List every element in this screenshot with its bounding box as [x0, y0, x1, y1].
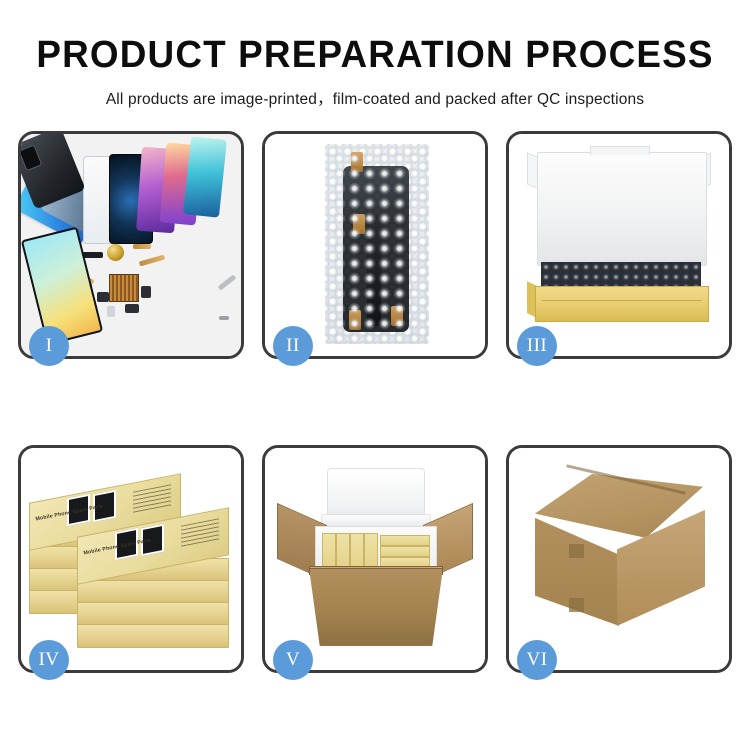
stacked-box — [77, 580, 229, 604]
process-step-panel-5: V — [262, 445, 488, 673]
camera-module-icon — [21, 144, 42, 171]
screen-flex-cable — [367, 214, 381, 326]
small-part — [107, 306, 115, 317]
step-5-image — [265, 448, 485, 670]
bubble-wrapped-contents — [541, 262, 701, 288]
step-badge-1: I — [29, 326, 69, 366]
process-step-panel-3: III — [506, 131, 732, 359]
stacked-box — [77, 624, 229, 648]
flex-cable — [133, 244, 151, 249]
yellow-mailer-box-base — [535, 286, 709, 322]
tweezers-tool — [218, 274, 237, 290]
chip-component — [109, 274, 139, 302]
process-step-panel-1: I — [18, 131, 244, 359]
page-header: PRODUCT PREPARATION PROCESS All products… — [0, 0, 750, 109]
step-1-image — [21, 134, 241, 356]
page-subtitle: All products are image-printed，film-coat… — [0, 87, 750, 109]
page-title: PRODUCT PREPARATION PROCESS — [11, 36, 739, 76]
shipping-carton-open — [309, 568, 443, 646]
step-badge-5: V — [273, 640, 313, 680]
step-2-image — [265, 134, 485, 356]
wrapped-screen-assembly — [343, 166, 409, 332]
screw — [219, 316, 229, 320]
white-foam-lid — [537, 152, 707, 266]
phone-teal — [183, 136, 227, 217]
packed-box — [380, 546, 430, 557]
tape-tab — [391, 306, 403, 326]
process-step-panel-2: II — [262, 131, 488, 359]
stacked-box — [77, 602, 229, 626]
bubble-wrap-bag — [325, 144, 429, 344]
process-step-grid: I II III — [18, 131, 732, 673]
step-6-image — [509, 448, 729, 670]
box-stack: Mobile Phone Spare Parts Mobile Phone Sp… — [29, 466, 235, 656]
tape-tab — [353, 214, 365, 234]
step-3-image — [509, 134, 729, 356]
small-part — [141, 286, 151, 298]
packed-box — [380, 535, 430, 546]
step-badge-2: II — [273, 326, 313, 366]
step-badge-3: III — [517, 326, 557, 366]
step-badge-4: IV — [29, 640, 69, 680]
process-step-panel-6: VI — [506, 445, 732, 673]
speaker-component — [107, 244, 124, 261]
small-part — [97, 292, 109, 302]
process-step-panel-4: Mobile Phone Spare Parts Mobile Phone Sp… — [18, 445, 244, 673]
step-badge-6: VI — [517, 640, 557, 680]
phone-front-large — [21, 226, 103, 345]
tape-tab — [351, 152, 363, 172]
carton-tape-patch — [569, 598, 584, 612]
carton-tape-patch — [569, 544, 584, 558]
step-4-image: Mobile Phone Spare Parts Mobile Phone Sp… — [21, 448, 241, 670]
tape-tab — [349, 310, 361, 330]
flex-cable — [139, 254, 165, 266]
small-part — [125, 304, 139, 313]
